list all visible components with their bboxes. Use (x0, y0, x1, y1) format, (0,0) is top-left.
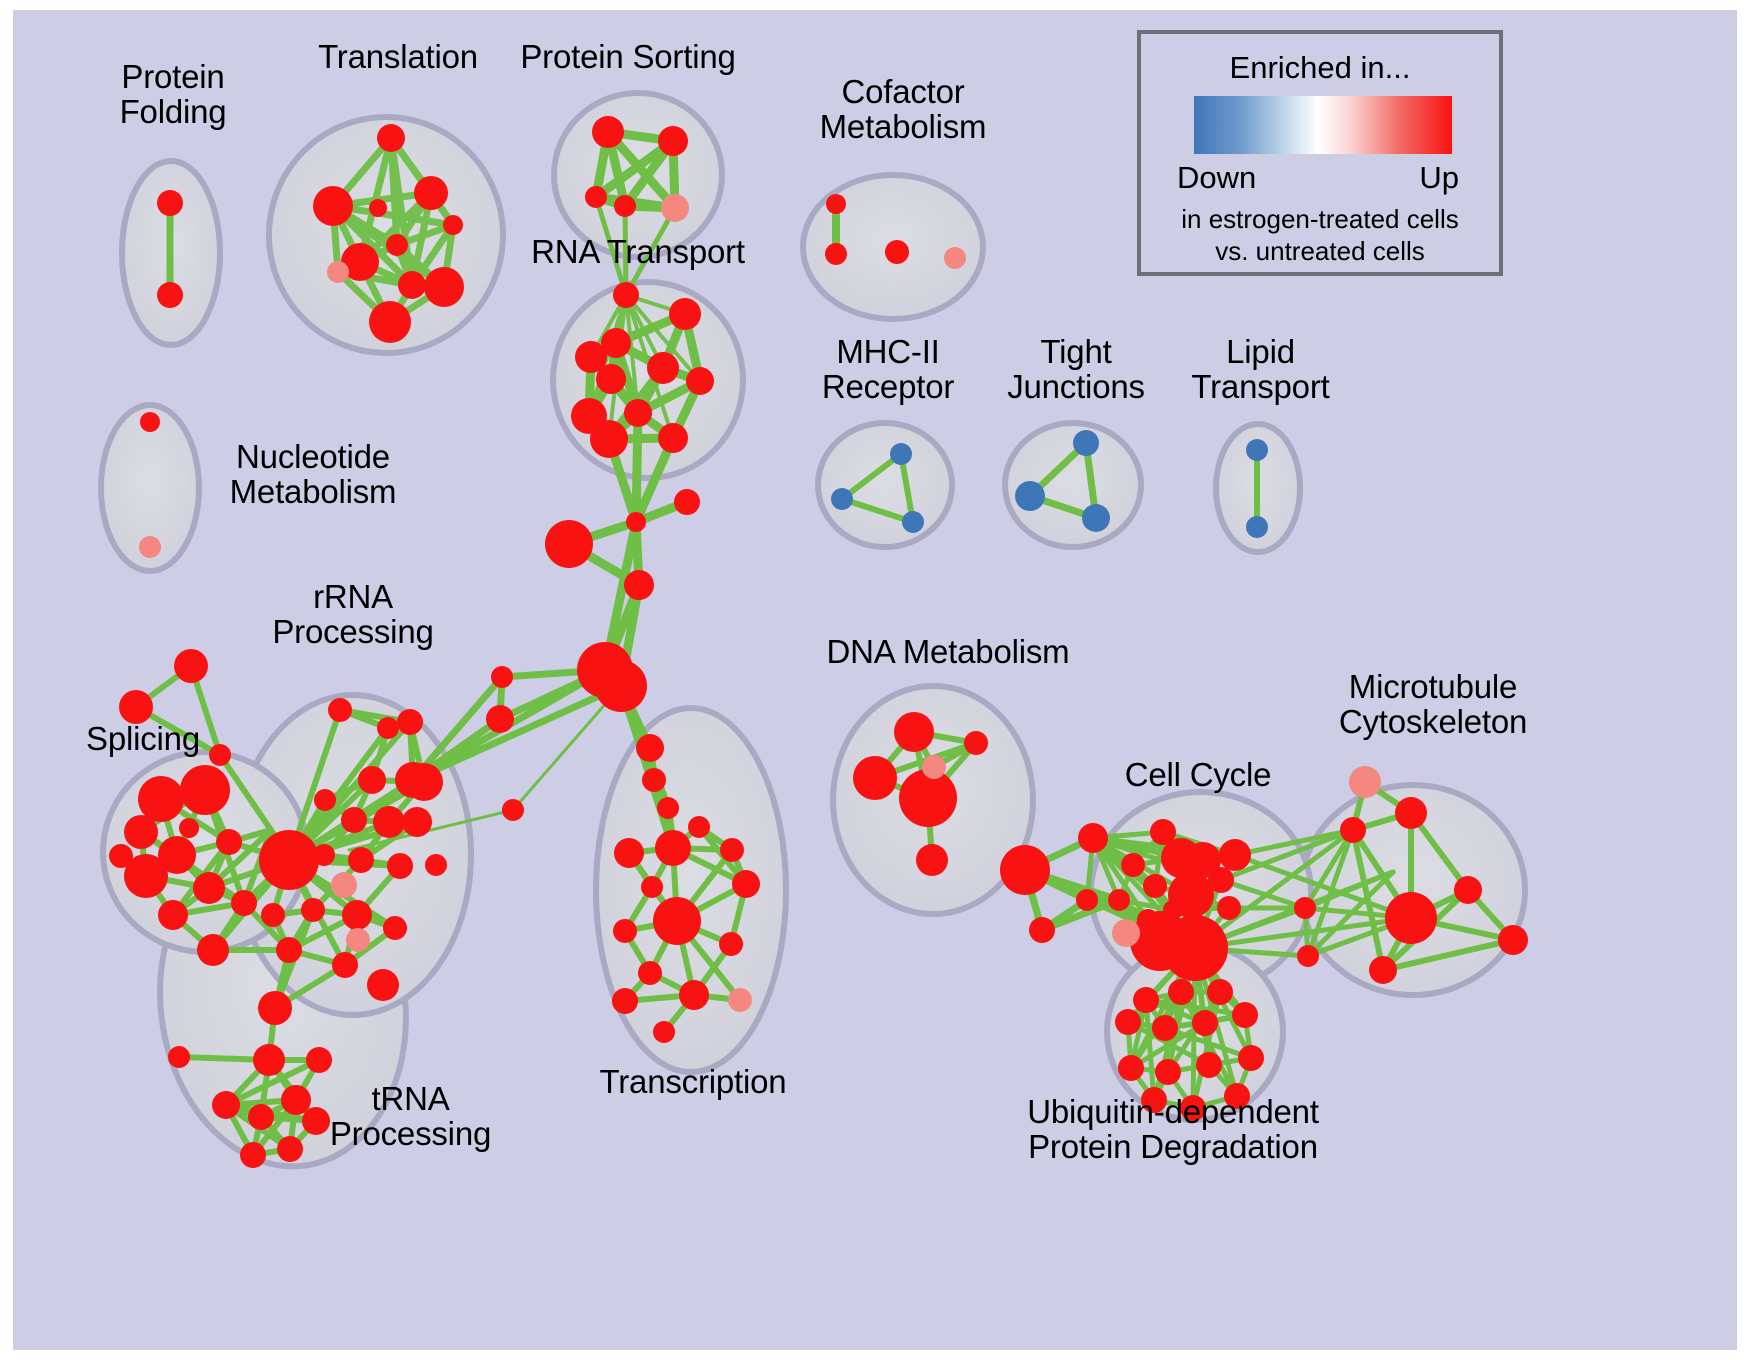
node (1238, 1045, 1264, 1071)
node (259, 830, 319, 890)
node (612, 988, 638, 1014)
node (1115, 1009, 1141, 1035)
node (1130, 911, 1190, 971)
node (348, 847, 374, 873)
hull-mhc-ii (818, 423, 952, 547)
node (1029, 917, 1055, 943)
node (1369, 956, 1397, 984)
node (890, 443, 912, 465)
node (1340, 817, 1366, 843)
node (624, 399, 652, 427)
node (424, 267, 464, 307)
cluster-label-tight-junctions: Tight Junctions (991, 335, 1161, 404)
node (916, 844, 948, 876)
node (373, 806, 405, 838)
node (732, 870, 760, 898)
node (1207, 979, 1233, 1005)
cluster-label-rrna-processing: rRNA Processing (258, 580, 448, 649)
node (1118, 1055, 1144, 1081)
node (1192, 1010, 1218, 1036)
node (641, 876, 663, 898)
node (626, 512, 646, 532)
node (1155, 1059, 1181, 1085)
node (669, 298, 701, 330)
node (253, 1044, 285, 1076)
node (314, 789, 336, 811)
node (261, 903, 285, 927)
node (826, 194, 846, 214)
node (139, 536, 161, 558)
node (674, 489, 700, 515)
node (327, 261, 349, 283)
cluster-label-protein-folding: Protein Folding (88, 60, 258, 129)
node (1454, 876, 1482, 904)
node (899, 769, 957, 827)
node (1385, 892, 1437, 944)
node (1121, 853, 1145, 877)
node (1133, 987, 1159, 1013)
node (585, 186, 607, 208)
enrichment-map-canvas: Protein Folding Translation Protein Sort… (13, 10, 1737, 1350)
cluster-label-protein-sorting: Protein Sorting (503, 40, 753, 75)
cluster-label-transcription: Transcription (578, 1065, 808, 1100)
node (1349, 766, 1381, 798)
node (686, 367, 714, 395)
node (657, 797, 679, 819)
cluster-label-cofactor-metabolism: Cofactor Metabolism (803, 75, 1003, 144)
node (831, 488, 853, 510)
node (414, 176, 448, 210)
node (653, 1021, 675, 1043)
node (590, 420, 628, 458)
node (1076, 889, 1098, 911)
legend-high-label: Up (1419, 160, 1459, 196)
node (402, 807, 432, 837)
node (369, 199, 387, 217)
node (636, 734, 664, 762)
node (1143, 874, 1167, 898)
node (216, 829, 242, 855)
node (1152, 1015, 1178, 1041)
node (425, 854, 447, 876)
node (197, 934, 229, 966)
node (688, 816, 710, 838)
node (443, 215, 463, 235)
node (240, 1142, 266, 1168)
node (647, 352, 679, 384)
cluster-label-lipid-transport: Lipid Transport (1173, 335, 1348, 404)
node (853, 756, 897, 800)
node (964, 731, 988, 755)
node (342, 900, 372, 930)
node (138, 776, 184, 822)
node (277, 1136, 303, 1162)
node (1294, 897, 1316, 919)
node (1246, 439, 1268, 461)
node (502, 799, 524, 821)
node (1073, 430, 1099, 456)
node (386, 234, 408, 256)
node (248, 1104, 274, 1130)
node (1498, 925, 1528, 955)
cluster-label-cell-cycle: Cell Cycle (1108, 758, 1288, 793)
node (158, 900, 188, 930)
node (613, 282, 639, 308)
node (405, 763, 443, 801)
cluster-label-nucleotide-metabolism: Nucleotide Metabolism (208, 440, 418, 509)
node (124, 815, 158, 849)
figure-stage: Protein Folding Translation Protein Sort… (0, 0, 1750, 1360)
node (174, 649, 208, 683)
node (595, 660, 647, 712)
node (387, 853, 413, 879)
node (638, 961, 662, 985)
node (624, 570, 654, 600)
node (1168, 979, 1194, 1005)
node (332, 952, 358, 978)
node (894, 712, 934, 752)
node (157, 190, 183, 216)
node (658, 126, 688, 156)
node (1219, 839, 1251, 871)
node (377, 124, 405, 152)
node (383, 916, 407, 940)
node (491, 666, 513, 688)
node (1108, 889, 1130, 911)
cluster-label-dna-metabolism: DNA Metabolism (813, 635, 1083, 670)
node (1208, 867, 1234, 893)
node (231, 890, 257, 916)
node (655, 830, 691, 866)
node (193, 872, 225, 904)
node (825, 243, 847, 265)
node (119, 690, 153, 724)
node (1082, 504, 1110, 532)
node (341, 807, 367, 833)
node (276, 937, 302, 963)
cluster-label-trna-processing: tRNA Processing (313, 1082, 508, 1151)
node (1196, 1052, 1222, 1078)
node (179, 818, 199, 838)
node (944, 247, 966, 269)
node (397, 709, 423, 735)
node (358, 766, 386, 794)
node (346, 928, 370, 952)
node (281, 1085, 311, 1115)
node (719, 932, 743, 956)
node (212, 1091, 240, 1119)
node (1078, 823, 1108, 853)
node (728, 988, 752, 1012)
node (679, 980, 709, 1010)
node (306, 1047, 332, 1073)
node (661, 194, 689, 222)
node (367, 969, 399, 1001)
node (398, 271, 426, 299)
hull-rna-transport (553, 282, 743, 478)
node (168, 1046, 190, 1068)
node (885, 240, 909, 264)
cluster-label-splicing: Splicing (63, 722, 223, 757)
node (1217, 896, 1241, 920)
node (1112, 919, 1140, 947)
node (157, 282, 183, 308)
node (545, 520, 593, 568)
node (596, 364, 626, 394)
node (1232, 1002, 1258, 1028)
node (658, 423, 688, 453)
node (331, 872, 357, 898)
node (377, 717, 399, 739)
node (140, 412, 160, 432)
node (614, 195, 636, 217)
cluster-label-microtubule: Microtubule Cytoskeleton (1313, 670, 1553, 739)
node (922, 755, 946, 779)
cluster-label-rna-transport: RNA Transport (513, 235, 763, 270)
legend-sub-line-1: in estrogen-treated cells (1141, 204, 1499, 235)
node (180, 765, 230, 815)
node (258, 991, 292, 1025)
node (1246, 516, 1268, 538)
node (613, 919, 637, 943)
node (614, 838, 644, 868)
node (592, 116, 624, 148)
legend-low-label: Down (1177, 160, 1256, 196)
node (109, 844, 133, 868)
node (1297, 945, 1319, 967)
legend-sub-line-2: vs. untreated cells (1141, 236, 1499, 267)
node (653, 897, 701, 945)
legend-box: Enriched in... Down Up in estrogen-treat… (1137, 30, 1503, 276)
node (1000, 845, 1050, 895)
cluster-label-translation: Translation (298, 40, 498, 75)
node (720, 838, 744, 862)
node (1395, 797, 1427, 829)
cluster-label-ubiquitin: Ubiquitin-dependent Protein Degradation (998, 1095, 1348, 1164)
node (369, 301, 411, 343)
node (902, 511, 924, 533)
node (301, 898, 325, 922)
cluster-label-mhc-ii-receptor: MHC-II Receptor (798, 335, 978, 404)
node (1015, 481, 1045, 511)
node (313, 186, 353, 226)
legend-color-gradient-bar (1194, 96, 1452, 154)
legend-title: Enriched in... (1141, 50, 1499, 86)
node (328, 698, 352, 722)
node (642, 768, 666, 792)
node (486, 705, 514, 733)
